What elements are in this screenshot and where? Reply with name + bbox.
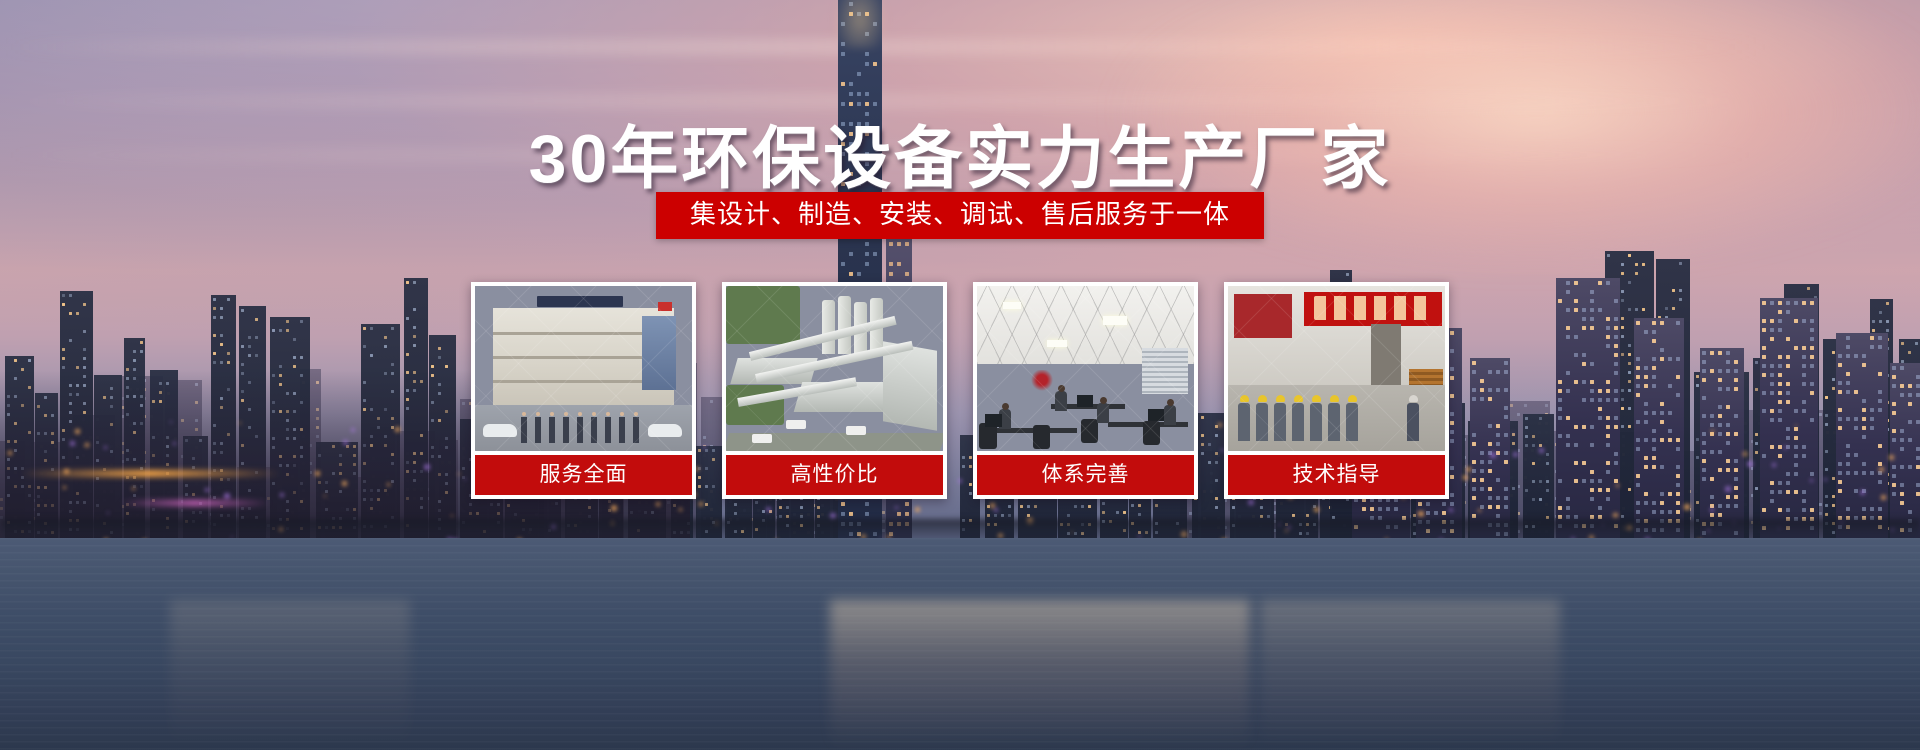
card-caption: 高性价比	[726, 455, 943, 495]
feature-card[interactable]: 服务全面	[471, 282, 696, 499]
card-photo-workshop	[1228, 286, 1445, 451]
card-photo-office-interior	[977, 286, 1194, 451]
subtitle-row: 集设计、制造、安装、调试、售后服务于一体	[0, 192, 1920, 239]
feature-card[interactable]: 高性价比	[722, 282, 947, 499]
feature-card[interactable]: 技术指导	[1224, 282, 1449, 499]
hero-banner: 30年环保设备实力生产厂家 集设计、制造、安装、调试、售后服务于一体	[0, 0, 1920, 750]
water-reflection	[170, 600, 410, 750]
feature-card[interactable]: 体系完善	[973, 282, 1198, 499]
subtitle-badge: 集设计、制造、安装、调试、售后服务于一体	[656, 192, 1264, 239]
river-water	[0, 538, 1920, 750]
card-photo-plant-aerial	[726, 286, 943, 451]
water-reflection	[830, 600, 1250, 750]
page-title: 30年环保设备实力生产厂家	[0, 103, 1920, 202]
card-caption: 技术指导	[1228, 455, 1445, 495]
company-sign	[537, 296, 623, 307]
side-banner	[1234, 294, 1292, 338]
card-caption: 服务全面	[475, 455, 692, 495]
water-reflection	[1260, 600, 1560, 750]
feature-card-list: 服务全面 高性价比	[471, 282, 1449, 499]
wall-emblem	[1029, 370, 1055, 392]
card-caption: 体系完善	[977, 455, 1194, 495]
card-photo-office-building	[475, 286, 692, 451]
